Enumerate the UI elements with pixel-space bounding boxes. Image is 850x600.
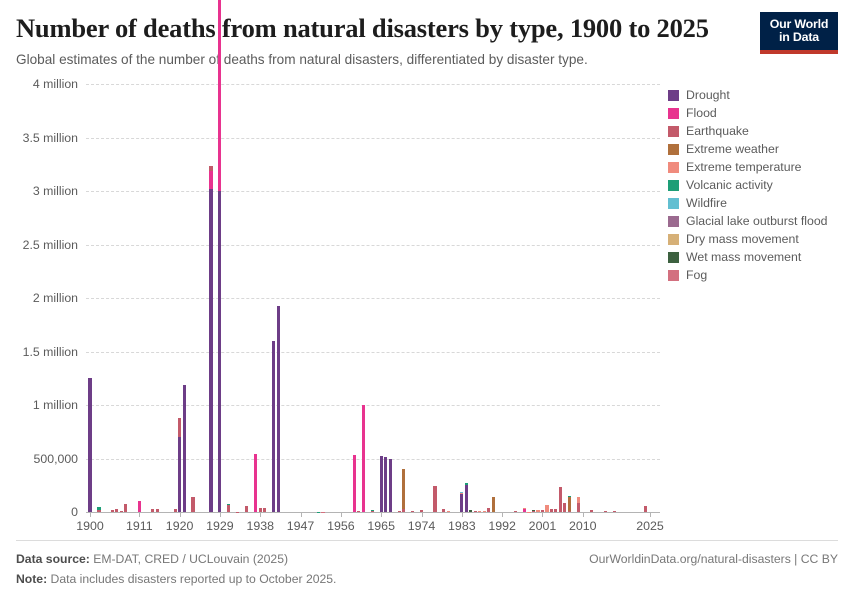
bar-segment (218, 0, 221, 191)
bar-stack[interactable] (272, 341, 275, 512)
chart-page: Number of deaths from natural disasters … (0, 0, 850, 600)
y-axis: 0500,0001 million1.5 million2 million2.5… (0, 84, 84, 520)
bar-stack[interactable] (227, 504, 230, 512)
bar-segment (389, 459, 392, 513)
legend-item-flood[interactable]: Flood (668, 104, 848, 122)
bar-segment (559, 487, 562, 512)
x-tick-label: 1947 (287, 519, 315, 533)
x-tick (341, 512, 342, 517)
bar-segment (178, 418, 181, 437)
legend-item-volcanic-activity[interactable]: Volcanic activity (668, 176, 848, 194)
x-tick-label: 1929 (206, 519, 234, 533)
x-tick (650, 512, 651, 517)
legend-swatch-icon (668, 180, 679, 191)
y-tick-label: 2.5 million (23, 238, 78, 252)
bar-segment (563, 503, 566, 512)
bar-stack[interactable] (433, 486, 436, 512)
x-tick-label: 1900 (76, 519, 104, 533)
bar-stack[interactable] (492, 497, 495, 512)
x-tick (301, 512, 302, 517)
legend-label: Wildfire (686, 196, 727, 210)
bar-segment (568, 497, 571, 511)
legend-swatch-icon (668, 126, 679, 137)
x-tick (139, 512, 140, 517)
legend-label: Fog (686, 268, 707, 282)
bar-stack[interactable] (465, 483, 468, 512)
legend-label: Flood (686, 106, 717, 120)
x-tick-label: 1920 (166, 519, 194, 533)
bar-segment (254, 454, 257, 512)
x-tick (422, 512, 423, 517)
bar-stack[interactable] (384, 457, 387, 512)
bar-segment (353, 455, 356, 512)
bar-segment (492, 497, 495, 512)
legend-label: Extreme temperature (686, 160, 802, 174)
bar-segment (124, 504, 127, 512)
x-tick (462, 512, 463, 517)
bar-segment (277, 306, 280, 513)
page-subtitle: Global estimates of the number of deaths… (16, 51, 746, 69)
y-tick-label: 1.5 million (23, 345, 78, 359)
bar-segment (227, 505, 230, 512)
y-tick-label: 1 million (33, 398, 78, 412)
bar-stack[interactable] (380, 456, 383, 512)
bar-segment (183, 385, 186, 512)
attribution-link[interactable]: OurWorldinData.org/natural-disasters | C… (589, 549, 838, 569)
chart-footer: Data source: EM-DAT, CRED / UCLouvain (2… (16, 540, 838, 589)
legend-item-earthquake[interactable]: Earthquake (668, 122, 848, 140)
legend-swatch-icon (668, 234, 679, 245)
note-value: Data includes disasters reported up to O… (47, 572, 336, 586)
bar-stack[interactable] (577, 497, 580, 512)
bar-segment (88, 378, 91, 512)
logo-line-1: Our World (770, 18, 829, 31)
y-tick-label: 2 million (33, 291, 78, 305)
legend-swatch-icon (668, 216, 679, 227)
x-tick-label: 1974 (408, 519, 436, 533)
footer-note-row: Note: Data includes disasters reported u… (16, 569, 838, 589)
bar-stack[interactable] (218, 0, 221, 512)
legend-label: Dry mass movement (686, 232, 799, 246)
x-tick-label: 2010 (569, 519, 597, 533)
bar-stack[interactable] (559, 487, 562, 512)
bar-segment (402, 469, 405, 509)
bar-stack[interactable] (563, 503, 566, 512)
y-tick-label: 3.5 million (23, 131, 78, 145)
legend-swatch-icon (668, 144, 679, 155)
legend-item-drought[interactable]: Drought (668, 86, 848, 104)
bar-segment (178, 437, 181, 512)
legend-item-extreme-temperature[interactable]: Extreme temperature (668, 158, 848, 176)
bar-stack[interactable] (568, 496, 571, 512)
bar-segment (191, 497, 194, 512)
bar-stack[interactable] (254, 454, 257, 512)
bars-layer (86, 84, 660, 512)
y-tick-label: 500,000 (34, 452, 78, 466)
legend-item-wet-mass-movement[interactable]: Wet mass movement (668, 248, 848, 266)
x-tick-label: 1992 (488, 519, 516, 533)
x-tick-label: 1911 (126, 519, 153, 533)
legend-swatch-icon (668, 90, 679, 101)
x-tick (90, 512, 91, 517)
legend-label: Drought (686, 88, 730, 102)
legend-label: Volcanic activity (686, 178, 773, 192)
our-world-in-data-logo[interactable]: Our World in Data (760, 12, 838, 54)
chart-legend: DroughtFloodEarthquakeExtreme weatherExt… (668, 86, 848, 284)
bar-stack[interactable] (545, 505, 548, 512)
bar-stack[interactable] (124, 504, 127, 512)
note-label: Note: (16, 572, 47, 586)
x-tick (583, 512, 584, 517)
bar-stack[interactable] (138, 501, 141, 512)
bar-segment (460, 494, 463, 512)
y-tick-label: 3 million (33, 184, 78, 198)
x-tick (220, 512, 221, 517)
bar-stack[interactable] (460, 492, 463, 512)
legend-label: Extreme weather (686, 142, 779, 156)
bar-segment (218, 191, 221, 512)
x-tick-label: 2001 (529, 519, 557, 533)
footer-source-row: Data source: EM-DAT, CRED / UCLouvain (2… (16, 549, 838, 569)
bar-segment (545, 505, 548, 512)
bar-segment (272, 341, 275, 512)
x-tick (260, 512, 261, 517)
x-tick-label: 1983 (448, 519, 476, 533)
bar-stack[interactable] (362, 405, 365, 512)
bar-stack[interactable] (209, 166, 212, 512)
x-tick-label: 1956 (327, 519, 355, 533)
bar-segment (433, 486, 436, 512)
legend-swatch-icon (668, 162, 679, 173)
bar-stack[interactable] (389, 459, 392, 513)
legend-item-fog[interactable]: Fog (668, 266, 848, 284)
bar-segment (209, 171, 212, 189)
bar-segment (209, 189, 212, 512)
x-tick-label: 1965 (367, 519, 395, 533)
source-value: EM-DAT, CRED / UCLouvain (2025) (90, 552, 288, 566)
y-tick-label: 4 million (33, 77, 78, 91)
legend-item-extreme-weather[interactable]: Extreme weather (668, 140, 848, 158)
bar-segment (465, 485, 468, 512)
y-tick-label: 0 (71, 505, 78, 519)
bar-segment (380, 456, 383, 512)
legend-swatch-icon (668, 198, 679, 209)
chart-header: Number of deaths from natural disasters … (16, 14, 746, 68)
logo-line-2: in Data (779, 31, 819, 44)
legend-swatch-icon (668, 108, 679, 119)
legend-item-glacial-lake-outburst-flood[interactable]: Glacial lake outburst flood (668, 212, 848, 230)
bar-segment (384, 457, 387, 512)
legend-item-dry-mass-movement[interactable]: Dry mass movement (668, 230, 848, 248)
bar-stack[interactable] (353, 455, 356, 512)
x-tick (542, 512, 543, 517)
bar-stack[interactable] (88, 378, 91, 512)
bar-segment (577, 503, 580, 512)
bar-stack[interactable] (178, 418, 181, 512)
bar-stack[interactable] (277, 306, 280, 513)
legend-item-wildfire[interactable]: Wildfire (668, 194, 848, 212)
x-tick (180, 512, 181, 517)
legend-label: Wet mass movement (686, 250, 801, 264)
page-title: Number of deaths from natural disasters … (16, 14, 746, 44)
bar-stack[interactable] (402, 469, 405, 512)
bar-stack[interactable] (191, 497, 194, 512)
source-label: Data source: (16, 552, 90, 566)
x-tick-label: 1938 (246, 519, 274, 533)
legend-label: Earthquake (686, 124, 749, 138)
legend-swatch-icon (668, 270, 679, 281)
bar-segment (138, 501, 141, 512)
bar-segment (362, 405, 365, 512)
legend-label: Glacial lake outburst flood (686, 214, 828, 228)
x-tick (381, 512, 382, 517)
x-tick-label: 2025 (636, 519, 664, 533)
bar-stack[interactable] (183, 385, 186, 512)
x-tick (502, 512, 503, 517)
legend-swatch-icon (668, 252, 679, 263)
